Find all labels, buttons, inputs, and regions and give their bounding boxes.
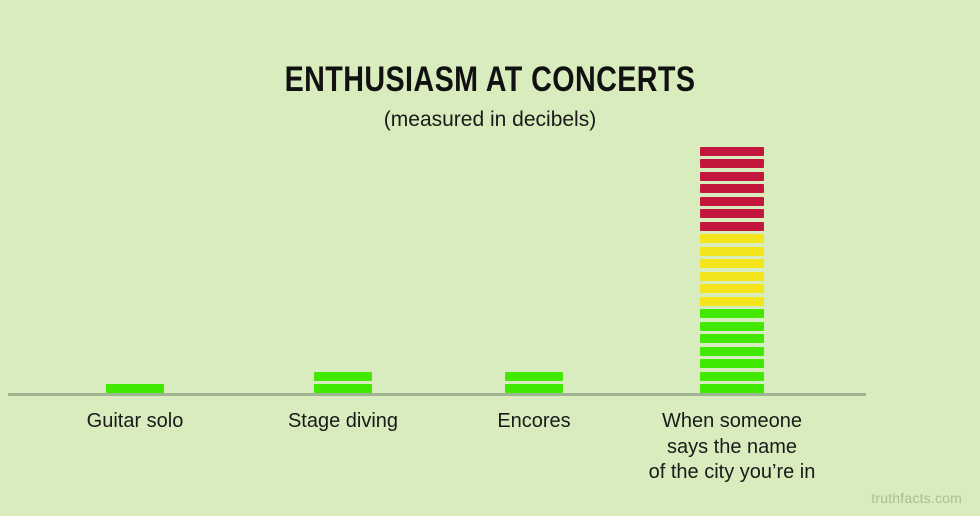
- bar-guitar-solo: [75, 381, 195, 394]
- bar-segment-yellow: [700, 297, 764, 306]
- bar-segment-green: [700, 322, 764, 331]
- bar-segment-red: [700, 209, 764, 218]
- bar-segment-green: [314, 384, 372, 393]
- bar-stage-diving: [283, 368, 403, 393]
- bar-segment-green: [700, 372, 764, 381]
- chart-plot-area: Guitar solo Stage diving Encores When so…: [0, 0, 980, 516]
- bar-segment-red: [700, 222, 764, 231]
- bar-segment-green: [700, 359, 764, 368]
- bar-segment-yellow: [700, 247, 764, 256]
- bar-segment-green: [505, 384, 563, 393]
- bar-city-name: [672, 143, 792, 393]
- watermark-truthfacts: truthfacts.com: [871, 490, 962, 506]
- bar-segment-yellow: [700, 259, 764, 268]
- x-axis-label-city-name: When someone says the name of the city y…: [602, 409, 862, 486]
- bar-segment-green: [700, 309, 764, 318]
- bar-segment-red: [700, 147, 764, 156]
- bar-segment-green: [700, 347, 764, 356]
- bar-segment-green: [700, 334, 764, 343]
- bar-segment-red: [700, 184, 764, 193]
- x-axis-baseline: [8, 393, 866, 396]
- bar-segment-red: [700, 172, 764, 181]
- bar-segment-green: [106, 384, 164, 393]
- bar-segment-red: [700, 197, 764, 206]
- bar-segment-yellow: [700, 284, 764, 293]
- bar-segment-green: [314, 372, 372, 381]
- bar-segment-green: [700, 384, 764, 393]
- bar-segment-red: [700, 159, 764, 168]
- bar-segment-yellow: [700, 234, 764, 243]
- bar-segment-yellow: [700, 272, 764, 281]
- bar-segment-green: [505, 372, 563, 381]
- infographic-poster: ENTHUSIASM AT CONCERTS (measured in deci…: [0, 0, 980, 516]
- bar-encores: [474, 368, 594, 393]
